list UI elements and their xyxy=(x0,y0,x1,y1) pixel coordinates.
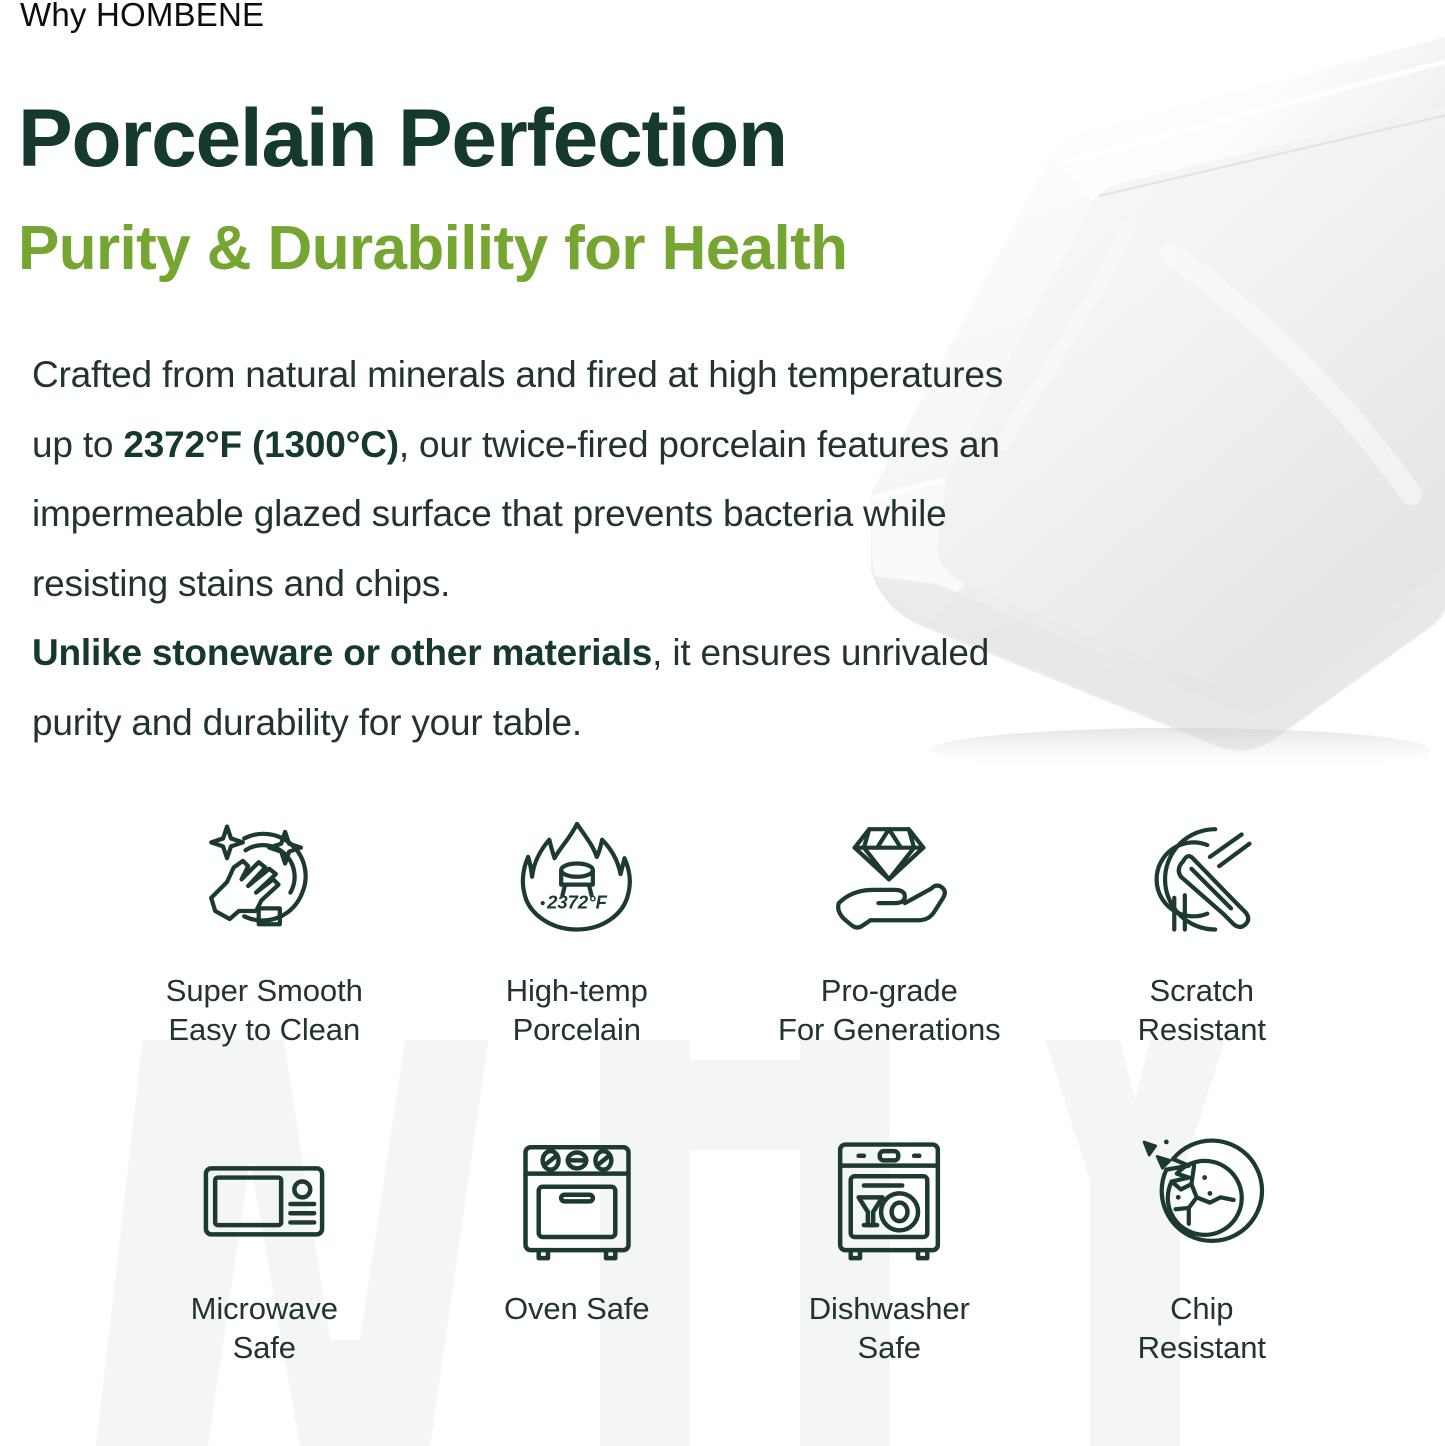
brand-eyebrow: Why HOMBENE xyxy=(20,0,264,34)
feature-label: Oven Safe xyxy=(504,1290,650,1329)
body-line-2: up to 2372°F (1300°C), our twice-fired p… xyxy=(32,410,1372,480)
feature-label: Chip Resistant xyxy=(1138,1290,1266,1368)
feature-label: Dishwasher Safe xyxy=(809,1290,970,1368)
feature-item-oven-safe: Oven Safe xyxy=(421,1124,734,1442)
feature-item-pro-grade: Pro-grade For Generations xyxy=(733,806,1046,1124)
feature-item-high-temp: 2372°F High-temp Porcelain xyxy=(421,806,734,1124)
headline-primary: Porcelain Perfection xyxy=(18,98,787,180)
body-line-3: impermeable glazed surface that prevents… xyxy=(32,479,1372,549)
headline-secondary: Purity & Durability for Health xyxy=(18,218,847,280)
feature-item-dishwasher-safe: Dishwasher Safe xyxy=(733,1124,1046,1442)
body-line-6: purity and durability for your table. xyxy=(32,688,1372,758)
feature-label: Pro-grade For Generations xyxy=(778,972,1001,1050)
feature-label: Microwave Safe xyxy=(191,1290,338,1368)
stove-oven-icon xyxy=(502,1124,652,1276)
body-line-4: resisting stains and chips. xyxy=(32,549,1372,619)
knife-scratching-plate-icon xyxy=(1127,806,1277,958)
body-line-1: Crafted from natural minerals and fired … xyxy=(32,340,1372,410)
dishwasher-icon xyxy=(814,1124,964,1276)
flame-kiln-temperature-icon: 2372°F xyxy=(502,806,652,958)
feature-item-chip-resistant: Chip Resistant xyxy=(1046,1124,1359,1442)
comparison-highlight: Unlike stoneware or other materials xyxy=(32,632,652,673)
hand-wiping-plate-sparkle-icon xyxy=(189,806,339,958)
body-line-5: Unlike stoneware or other materials, it … xyxy=(32,618,1372,688)
feature-item-scratch-resistant: Scratch Resistant xyxy=(1046,806,1359,1124)
chipped-cracked-plate-icon xyxy=(1127,1124,1277,1276)
feature-item-super-smooth: Super Smooth Easy to Clean xyxy=(108,806,421,1124)
feature-label: Super Smooth Easy to Clean xyxy=(166,972,363,1050)
temperature-highlight: 2372°F (1300°C) xyxy=(123,424,398,465)
body-copy: Crafted from natural minerals and fired … xyxy=(32,340,1372,757)
feature-grid: Super Smooth Easy to Clean 2372°F High-t… xyxy=(108,806,1358,1442)
microwave-oven-icon xyxy=(189,1124,339,1276)
diamond-over-open-hand-icon xyxy=(814,806,964,958)
feature-label: High-temp Porcelain xyxy=(506,972,648,1050)
temperature-badge: 2372°F xyxy=(546,891,607,912)
feature-item-microwave-safe: Microwave Safe xyxy=(108,1124,421,1442)
feature-label: Scratch Resistant xyxy=(1138,972,1266,1050)
